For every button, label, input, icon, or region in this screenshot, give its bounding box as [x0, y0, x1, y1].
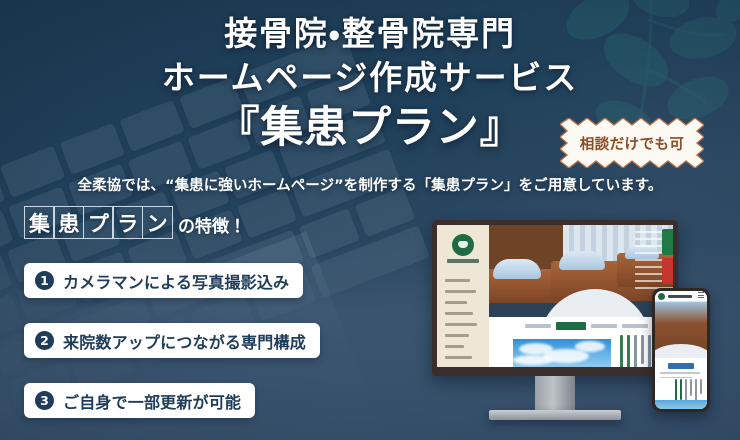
- cta-label-left: [525, 324, 551, 328]
- mobile-hero-photo: [655, 302, 707, 358]
- floating-side-tabs[interactable]: [662, 229, 673, 287]
- promo-banner: 接骨院・整骨院専門 ホームページ作成サービス 『集患プラン』 相談だけでも可 全…: [0, 0, 740, 440]
- monitor-bezel: [432, 220, 678, 376]
- feature-item-3: 3 ご自身で一部更新が可能: [24, 383, 255, 418]
- feature-number-badge: 1: [35, 271, 54, 290]
- headline-line-2: ホームページ作成サービス: [0, 55, 740, 100]
- website-cta-row[interactable]: [489, 320, 673, 332]
- feature-number-badge: 2: [35, 331, 54, 350]
- sky-photo: [513, 339, 611, 367]
- desktop-monitor-mockup: [432, 220, 678, 420]
- feature-item-1: 1 カメラマンによる写真撮影込み: [24, 263, 303, 298]
- features-heading: 集 患 プ ラ ン の特徴！: [24, 206, 246, 239]
- boxed-char: 患: [53, 206, 84, 239]
- feature-item-2: 2 来院数アップにつながる専門構成: [24, 323, 320, 358]
- mobile-cta-button[interactable]: [668, 363, 694, 369]
- clinic-logo-icon: [452, 234, 474, 256]
- headline-line-1: 接骨院・整骨院専門: [0, 12, 740, 55]
- mobile-hero-arc: [655, 344, 707, 358]
- treatment-room-photo: [489, 225, 673, 317]
- features-heading-tail: の特徴！: [178, 212, 246, 239]
- mobile-footer-band: [655, 400, 707, 409]
- badge-label: 相談だけでも可: [560, 118, 704, 168]
- feature-label: 来院数アップにつながる専門構成: [63, 329, 320, 353]
- feature-label: ご自身で一部更新が可能: [63, 389, 255, 413]
- bed-pillow: [493, 259, 541, 279]
- boxed-char: 集: [24, 206, 55, 239]
- mobile-header: [655, 291, 707, 302]
- bed-pillow: [559, 251, 605, 270]
- cta-label-extra: [622, 324, 648, 328]
- reserve-tab-red[interactable]: [662, 258, 673, 284]
- mobile-site-title: [668, 295, 692, 298]
- website-sidebar: [437, 225, 489, 367]
- smartphone-mockup: [652, 288, 710, 412]
- consultation-badge: 相談だけでも可: [560, 118, 704, 168]
- mobile-logo-icon: [658, 293, 665, 300]
- contact-tab-green[interactable]: [662, 229, 673, 255]
- subtitle-text: 全柔協では、“集患に強いホームページ”を制作する「集患プラン」をご用意しています…: [0, 174, 740, 195]
- phone-screen: [655, 291, 707, 409]
- clinic-name-placeholder: [447, 259, 479, 263]
- hamburger-menu-icon[interactable]: [698, 292, 704, 300]
- monitor-screen: [437, 225, 673, 367]
- cta-label-right: [591, 324, 617, 328]
- website-nav-list: [437, 279, 489, 359]
- boxed-plan-name: 集 患 プ ラ ン: [24, 206, 171, 239]
- feature-number-badge: 3: [35, 391, 54, 410]
- monitor-stand-base: [489, 410, 621, 420]
- monitor-stand-neck: [535, 376, 575, 410]
- boxed-char: ン: [142, 206, 173, 239]
- cta-button-green[interactable]: [556, 322, 586, 330]
- feature-label: カメラマンによる写真撮影込み: [63, 269, 303, 293]
- boxed-char: ラ: [112, 206, 143, 239]
- boxed-char: プ: [83, 206, 114, 239]
